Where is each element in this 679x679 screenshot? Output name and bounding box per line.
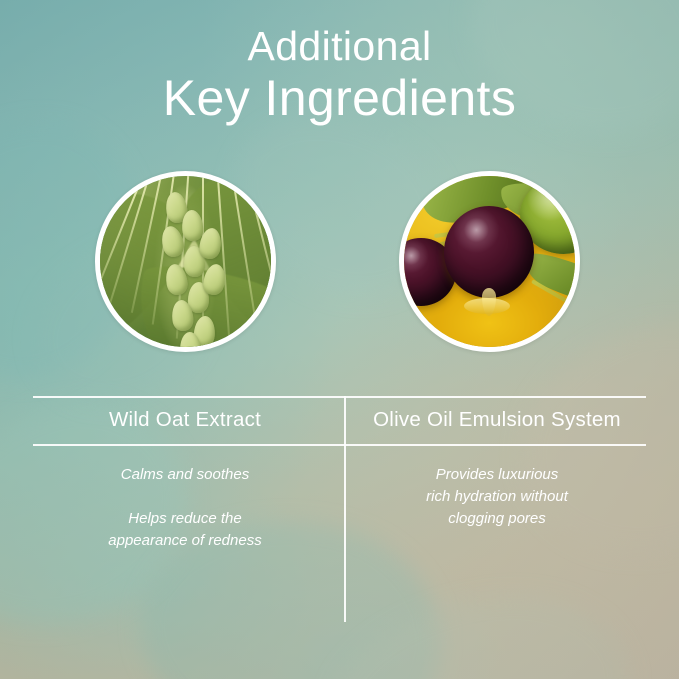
wild-oat-image-circle [95,171,276,352]
wild-oat-photo [100,176,271,347]
title-line-1: Additional [0,22,679,70]
page-title: Additional Key Ingredients [0,22,679,127]
column-paragraph: Helps reduce theappearance of redness [35,508,335,552]
column-wild-oat-extract: Wild Oat Extract Calms and soothes Helps… [35,404,335,552]
olive-oil-image-circle [399,171,580,352]
divider-top [33,396,646,398]
column-paragraph: Calms and soothes [35,464,335,486]
ingredient-infographic: Additional Key Ingredients [0,0,679,679]
column-olive-oil-emulsion-system: Olive Oil Emulsion System Provides luxur… [347,404,647,530]
column-heading: Wild Oat Extract [35,404,335,436]
dark-olive-large [444,206,534,298]
column-body: Provides luxuriousrich hydration without… [347,464,647,530]
olive-oil-photo [404,176,575,347]
column-body: Calms and soothes Helps reduce theappear… [35,464,335,552]
column-heading: Olive Oil Emulsion System [347,404,647,436]
divider-vertical [344,396,346,622]
oil-pool-highlight [464,298,510,314]
column-paragraph: Provides luxuriousrich hydration without… [347,464,647,530]
title-line-2: Key Ingredients [0,70,679,127]
